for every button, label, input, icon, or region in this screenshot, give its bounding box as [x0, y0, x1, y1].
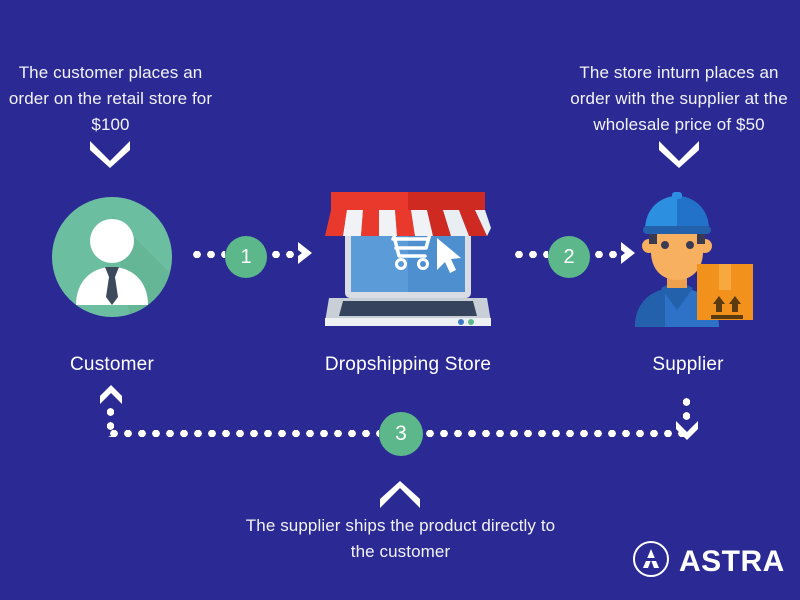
connector-dots-step1-left: [190, 251, 225, 258]
step-number-3: 3: [395, 422, 407, 446]
infographic-canvas: The customer places an order on the reta…: [0, 0, 800, 600]
delivery-worker-icon: [625, 192, 755, 327]
caption-store-order: The store inturn places an order with th…: [566, 60, 792, 138]
connector-dots-return-right-segment: [423, 430, 686, 437]
node-label-supplier: Supplier: [610, 354, 766, 376]
step-number-2: 2: [563, 246, 574, 269]
astra-wordmark: ASTRA: [679, 547, 785, 577]
caption-supplier-ships: The supplier ships the product directly …: [243, 513, 558, 565]
customer-avatar-icon: [52, 197, 172, 317]
connector-dots-step1-right: [269, 251, 296, 258]
connector-dots-return-left-segment: [107, 430, 379, 437]
step-number-1: 1: [240, 246, 251, 269]
connector-dots-return-right-vertical: [683, 395, 690, 423]
astra-logo: ASTRA: [632, 540, 785, 583]
step-badge-1: 1: [225, 236, 267, 278]
step-badge-3: 3: [379, 412, 423, 456]
caption-customer-order: The customer places an order on the reta…: [8, 60, 213, 138]
connector-dots-step2-left: [512, 251, 548, 258]
connector-dots-step2-right: [592, 251, 619, 258]
online-store-laptop-icon: [325, 178, 491, 328]
node-label-store: Dropshipping Store: [302, 354, 514, 376]
astra-circle-a-icon: [632, 540, 670, 583]
node-label-customer: Customer: [30, 354, 194, 376]
step-badge-2: 2: [548, 236, 590, 278]
